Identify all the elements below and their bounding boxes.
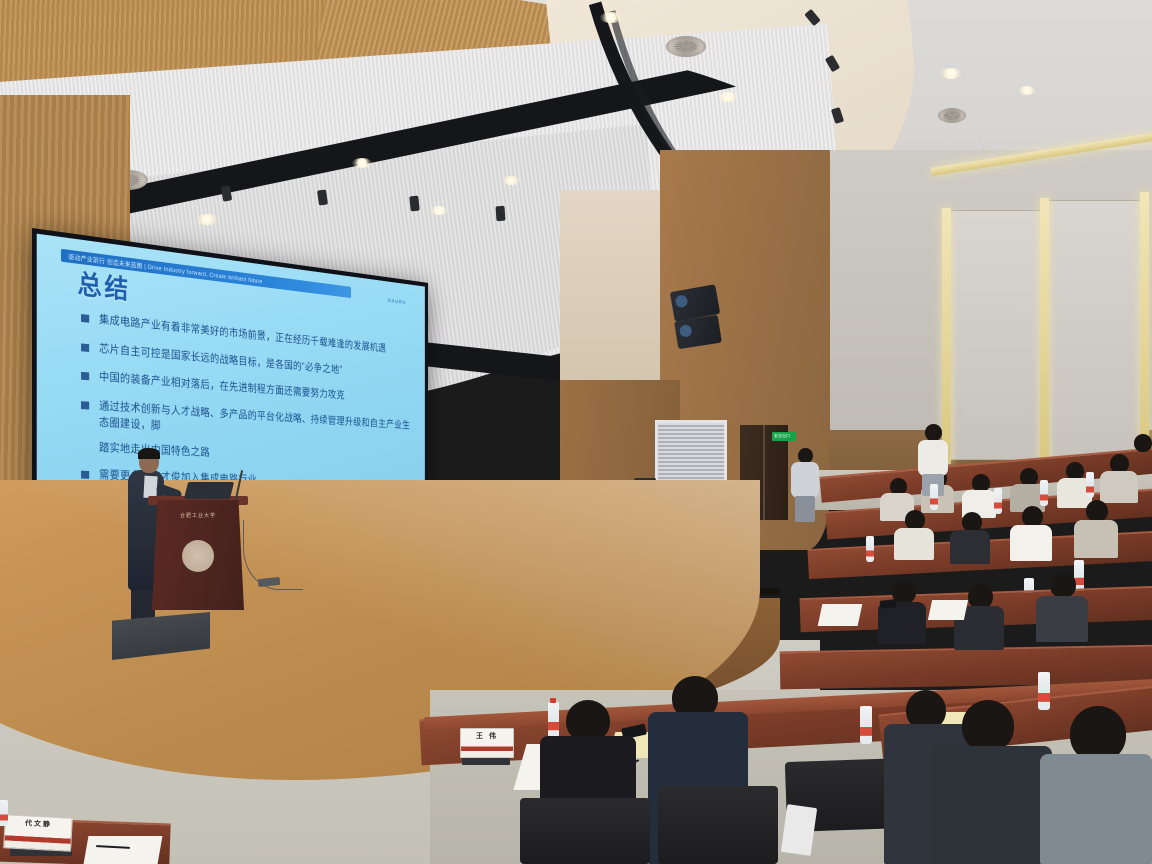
nameplate-stand [462, 758, 510, 765]
audience-head [905, 510, 925, 530]
auditorium-scene: 安全出口 驱动产业前行 创造未来蓝图 | Drive Industry forw… [0, 0, 1152, 864]
slide-logo: NAURA [388, 298, 407, 305]
slide-title: 总结 [77, 263, 130, 307]
bullet-square-icon [81, 471, 89, 479]
ceiling-downlight-icon [352, 158, 372, 168]
water-bottle[interactable] [994, 488, 1002, 514]
audience-torso [950, 530, 990, 564]
exit-sign-icon: 安全出口 [772, 432, 796, 441]
smartphone[interactable] [880, 599, 897, 609]
ceiling-downlight-icon [718, 92, 738, 102]
front-attendee-torso [930, 746, 1052, 864]
presenter-hair [138, 448, 160, 459]
front-attendee-torso [1040, 754, 1152, 864]
water-bottle[interactable] [1086, 472, 1094, 498]
nameplate-label: 代文静 [25, 818, 52, 829]
nameplate-wang-wei: 王 伟 [460, 728, 514, 758]
podium-institution-label: 合肥工业大学 [156, 512, 240, 519]
bottle-cap [550, 698, 556, 703]
audience-head [1086, 500, 1108, 522]
wall-gold-light-strip [942, 208, 951, 464]
water-bottle[interactable] [1038, 672, 1050, 710]
wall-decor-panel [1048, 200, 1143, 465]
ceiling-downlight-icon [940, 68, 962, 79]
front-attendee-head [962, 700, 1014, 752]
slide-bullet-text: 通过技术创新与人才战略、多产品的平台化战略、持续管理升级和自主产业生态圈建设，脚 [99, 399, 414, 448]
ceiling-downlight-icon [1018, 86, 1036, 95]
audience-torso [894, 528, 934, 560]
standing-attendee-legs [795, 496, 815, 522]
ceiling-downlight-icon [600, 12, 622, 23]
handout-paper[interactable] [818, 604, 863, 626]
seat-back [520, 798, 650, 864]
track-spotlight-icon [495, 206, 505, 222]
ceiling-downlight-icon [502, 176, 520, 185]
ceiling-downlight-icon [430, 206, 448, 215]
ceiling-air-vent-icon [666, 36, 706, 57]
audience-head [1134, 434, 1152, 452]
bullet-square-icon [81, 401, 89, 409]
audience-torso [1100, 471, 1138, 503]
nameplate-label: 王 伟 [476, 731, 498, 741]
bullet-square-icon [81, 372, 89, 380]
audience-torso [1036, 596, 1088, 642]
standing-attendee-torso [918, 440, 948, 476]
track-spotlight-icon [317, 189, 328, 205]
wall-gold-light-strip [1040, 198, 1049, 468]
presenter-shirt [143, 476, 157, 499]
ceiling-air-vent-icon [938, 108, 966, 123]
handout-paper[interactable] [928, 600, 968, 620]
track-spotlight-icon [409, 196, 420, 212]
standing-attendee-head [925, 424, 942, 441]
exit-door-split [763, 425, 765, 520]
wall-decor-panel [950, 210, 1045, 460]
ceiling-downlight-icon [196, 214, 218, 225]
audience-head [1022, 506, 1043, 527]
podium-emblem-icon [182, 540, 214, 572]
handout-paper[interactable] [84, 836, 163, 864]
standing-attendee-torso [791, 462, 819, 498]
standing-attendee-head [798, 448, 813, 463]
podium-laptop[interactable] [184, 482, 234, 499]
water-bottle[interactable] [866, 536, 874, 562]
audience-torso [1074, 520, 1118, 558]
water-bottle[interactable] [860, 706, 872, 744]
bullet-square-icon [81, 343, 89, 352]
water-bottle[interactable] [1040, 480, 1048, 506]
audience-head [1050, 572, 1076, 598]
bullet-square-icon [81, 314, 89, 323]
audience-head [962, 512, 982, 532]
wall-gold-light-strip [1140, 192, 1149, 468]
water-bottle[interactable] [0, 800, 8, 826]
seat-back [658, 786, 778, 864]
nameplate-dai-wenjing: 代文静 [3, 814, 73, 852]
water-bottle[interactable] [548, 702, 559, 738]
water-bottle[interactable] [930, 484, 938, 510]
exit-sign-label: 安全出口 [774, 433, 790, 439]
audience-torso [1010, 525, 1052, 561]
